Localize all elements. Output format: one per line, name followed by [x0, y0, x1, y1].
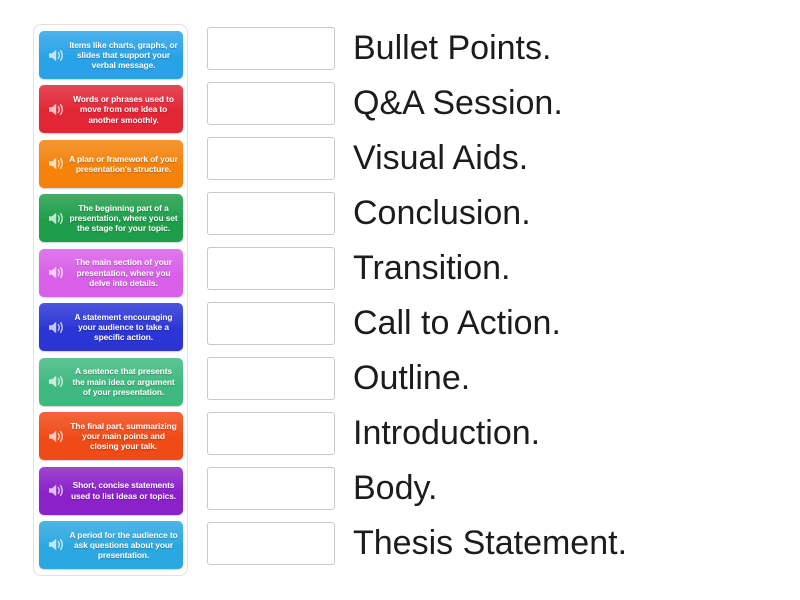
prompt-card-text: Words or phrases used to move from one i…	[69, 94, 183, 125]
answer-row: Outline.	[207, 354, 787, 402]
answer-row: Conclusion.	[207, 189, 787, 237]
drop-slot[interactable]	[207, 357, 335, 400]
answer-label: Call to Action.	[353, 303, 561, 343]
answer-label: Introduction.	[353, 413, 540, 453]
answer-row: Visual Aids.	[207, 134, 787, 182]
drop-slot[interactable]	[207, 302, 335, 345]
answer-row: Call to Action.	[207, 299, 787, 347]
prompt-card-text: The main section of your presentation, w…	[69, 257, 183, 288]
prompt-card-text: A sentence that presents the main idea o…	[69, 366, 183, 397]
answer-list: Bullet Points.Q&A Session.Visual Aids.Co…	[207, 24, 787, 576]
drop-slot[interactable]	[207, 467, 335, 510]
prompt-card-text: Items like charts, graphs, or slides tha…	[69, 40, 183, 71]
speaker-icon[interactable]	[43, 374, 69, 389]
prompt-card-text: A period for the audience to ask questio…	[69, 530, 183, 561]
drop-slot[interactable]	[207, 192, 335, 235]
speaker-icon[interactable]	[43, 429, 69, 444]
drop-slot[interactable]	[207, 247, 335, 290]
speaker-icon[interactable]	[43, 320, 69, 335]
speaker-icon[interactable]	[43, 483, 69, 498]
prompt-card[interactable]: A statement encouraging your audience to…	[39, 303, 183, 351]
prompt-card[interactable]: The beginning part of a presentation, wh…	[39, 194, 183, 242]
prompt-card-text: Short, concise statements used to list i…	[69, 480, 183, 500]
prompt-card-panel: Items like charts, graphs, or slides tha…	[33, 24, 188, 576]
prompt-card-text: The final part, summarizing your main po…	[69, 421, 183, 452]
answer-label: Q&A Session.	[353, 83, 563, 123]
prompt-card[interactable]: Words or phrases used to move from one i…	[39, 85, 183, 133]
speaker-icon[interactable]	[43, 537, 69, 552]
answer-row: Thesis Statement.	[207, 519, 787, 567]
drop-slot[interactable]	[207, 82, 335, 125]
prompt-card-text: A plan or framework of your presentation…	[69, 154, 183, 174]
drop-slot[interactable]	[207, 522, 335, 565]
answer-label: Thesis Statement.	[353, 523, 627, 563]
prompt-card[interactable]: A period for the audience to ask questio…	[39, 521, 183, 569]
answer-label: Visual Aids.	[353, 138, 528, 178]
match-up-activity: Items like charts, graphs, or slides tha…	[0, 0, 800, 600]
speaker-icon[interactable]	[43, 156, 69, 171]
prompt-card-text: The beginning part of a presentation, wh…	[69, 203, 183, 234]
prompt-card[interactable]: A sentence that presents the main idea o…	[39, 358, 183, 406]
answer-label: Bullet Points.	[353, 28, 551, 68]
answer-label: Outline.	[353, 358, 470, 398]
answer-label: Transition.	[353, 248, 510, 288]
speaker-icon[interactable]	[43, 102, 69, 117]
speaker-icon[interactable]	[43, 211, 69, 226]
prompt-card[interactable]: Items like charts, graphs, or slides tha…	[39, 31, 183, 79]
answer-row: Transition.	[207, 244, 787, 292]
prompt-card[interactable]: The final part, summarizing your main po…	[39, 412, 183, 460]
prompt-card-text: A statement encouraging your audience to…	[69, 312, 183, 343]
speaker-icon[interactable]	[43, 265, 69, 280]
prompt-card[interactable]: A plan or framework of your presentation…	[39, 140, 183, 188]
answer-label: Conclusion.	[353, 193, 531, 233]
speaker-icon[interactable]	[43, 48, 69, 63]
prompt-card[interactable]: Short, concise statements used to list i…	[39, 467, 183, 515]
drop-slot[interactable]	[207, 412, 335, 455]
drop-slot[interactable]	[207, 27, 335, 70]
answer-row: Q&A Session.	[207, 79, 787, 127]
answer-row: Introduction.	[207, 409, 787, 457]
answer-row: Bullet Points.	[207, 24, 787, 72]
answer-label: Body.	[353, 468, 437, 508]
answer-row: Body.	[207, 464, 787, 512]
drop-slot[interactable]	[207, 137, 335, 180]
prompt-card[interactable]: The main section of your presentation, w…	[39, 249, 183, 297]
